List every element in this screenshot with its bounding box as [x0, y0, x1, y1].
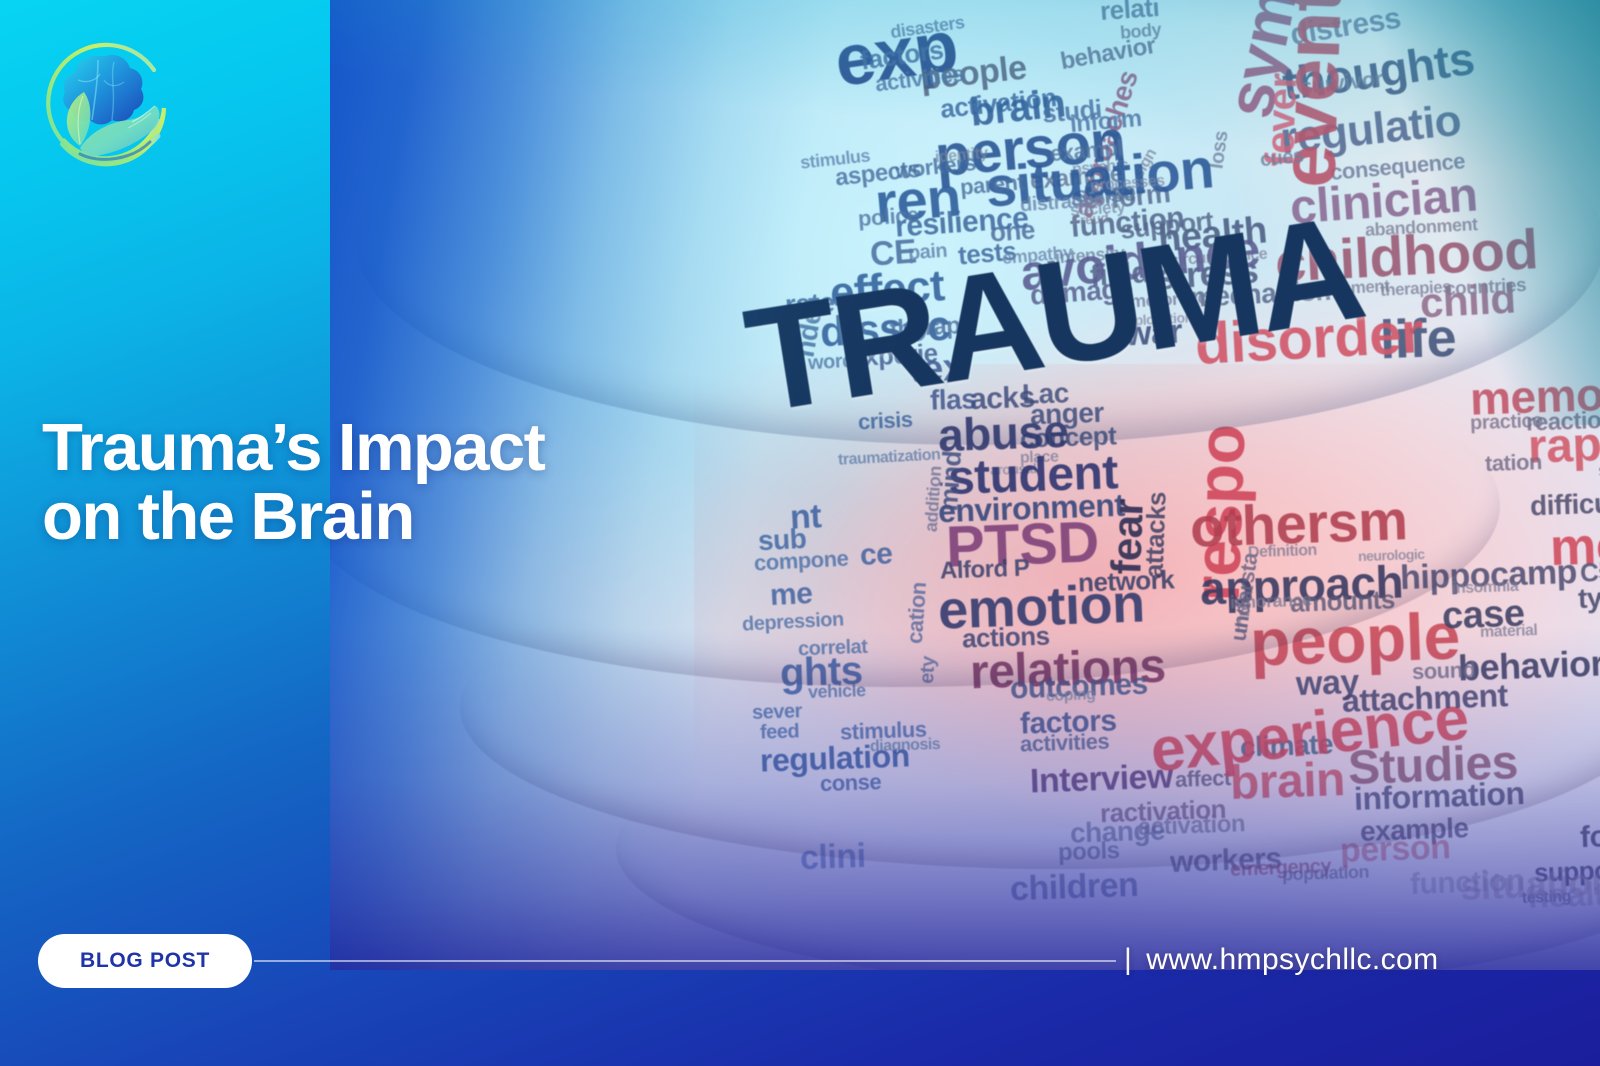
blog-post-banner: exppeoplerelatisympbodythoughtsdistresss… [0, 0, 1600, 1066]
url-separator: | [1124, 943, 1132, 977]
footer-divider-line [254, 960, 1116, 962]
page-title-line-1: Trauma’s Impact [42, 410, 544, 485]
brain-in-hand-logo[interactable] [36, 36, 181, 181]
page-title-line-2: on the Brain [42, 482, 722, 551]
url-text: www.hmpsychllc.com [1146, 943, 1438, 977]
blog-post-badge[interactable]: BLOG POST [38, 934, 252, 988]
page-title: Trauma’s Impact on the Brain [42, 413, 722, 551]
website-url[interactable]: | www.hmpsychllc.com [1124, 932, 1438, 988]
